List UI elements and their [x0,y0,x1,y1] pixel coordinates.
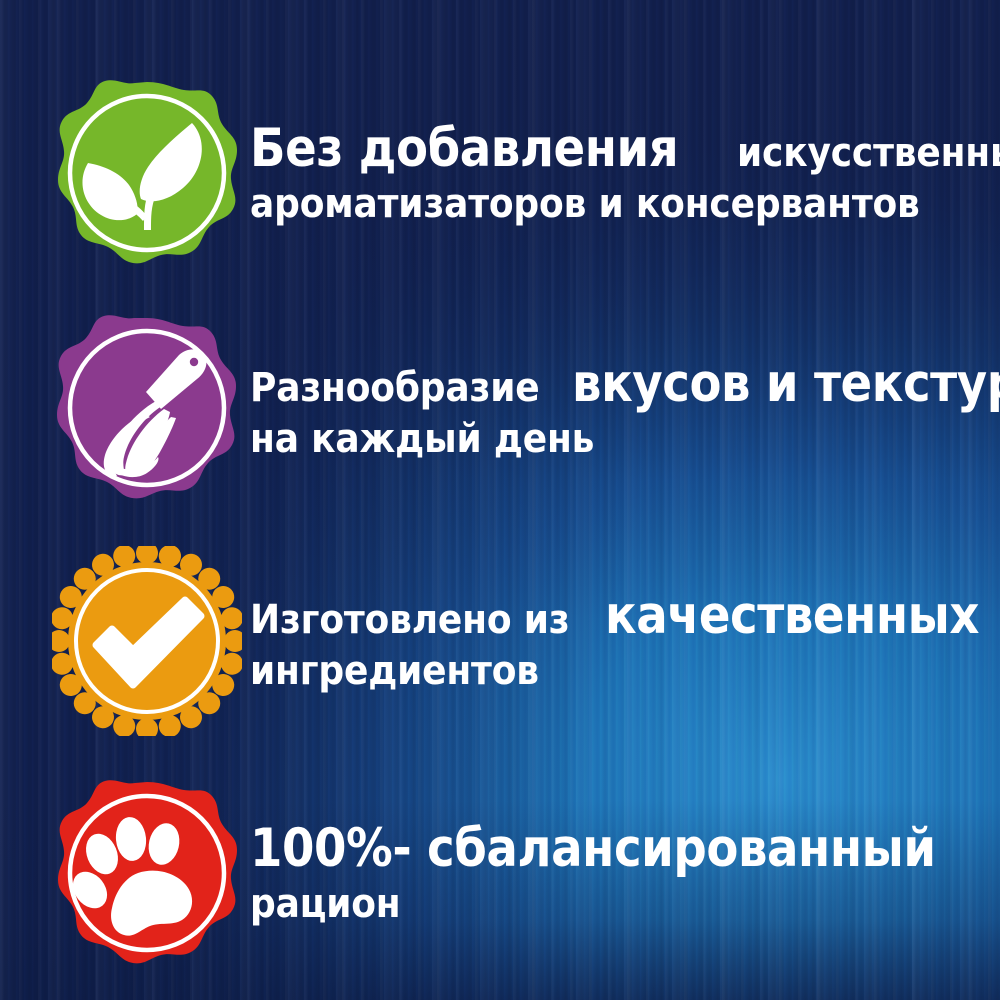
feature-line2-4: рацион [250,883,400,925]
feature-line2-3: ингредиентов [250,650,539,692]
feature-item-variety: Разнообразие вкусов и текстур на каждый … [0,313,1000,503]
feature-lead-2: Разнообразие [250,367,540,409]
feature-text-variety: Разнообразие вкусов и текстур на каждый … [250,356,1000,461]
feature-item-no-additives: Без добавления искусственных ароматизато… [0,78,1000,268]
feature-lead-3: Изготовлено из [250,599,570,641]
feature-line2-2: на каждый день [250,418,594,460]
whisk-icon [52,313,242,503]
feature-text-quality: Изготовлено из качественных ингредиентов [250,588,1000,693]
feature-emphasis-4: 100%- сбалансированный [250,821,936,877]
feature-text-no-additives: Без добавления искусственных ароматизато… [250,121,1000,226]
feature-list: Без добавления искусственных ароматизато… [0,0,1000,1000]
feature-text-balanced: 100%- сбалансированный рацион [250,821,1000,926]
feature-emphasis-1: Без добавления [250,121,678,177]
feature-emphasis-3: качественных [605,588,979,644]
check-badge-icon [52,546,242,736]
feature-rest-1: искусственных [737,132,1000,174]
paw-icon [52,778,242,968]
promo-infographic: Без добавления искусственных ароматизато… [0,0,1000,1000]
feature-item-balanced: 100%- сбалансированный рацион [0,778,1000,968]
feature-item-quality: Изготовлено из качественных ингредиентов [0,543,1000,738]
leaf-icon [52,78,242,268]
feature-line2-1: ароматизаторов и консервантов [250,183,920,225]
feature-emphasis-2: вкусов и текстур [572,356,1000,412]
